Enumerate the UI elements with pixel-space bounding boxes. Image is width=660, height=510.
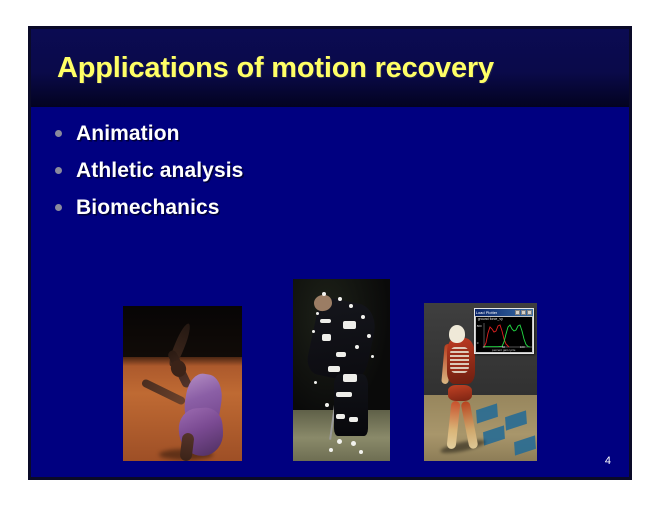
model-pelvis [448, 385, 472, 401]
bullet-label: Animation [76, 122, 180, 146]
plot-window[interactable]: Load Plotter [474, 308, 534, 354]
minimize-button[interactable] [515, 310, 520, 315]
mocap-marker [338, 297, 342, 301]
mocap-marker-band [349, 417, 358, 422]
model-skull [449, 325, 465, 343]
list-item: Athletic analysis [55, 152, 243, 189]
mocap-marker-band [336, 352, 346, 357]
bullet-dot-icon [55, 204, 62, 211]
plot-canvas: ground force_vy 800 0 0 50 100 percent g… [476, 317, 532, 352]
y-axis-max-label: 800 [477, 324, 482, 328]
bullet-list: Animation Athletic analysis Biomechanics [55, 115, 243, 226]
dancer-photo [123, 306, 242, 461]
presentation-slide: Applications of motion recovery Animatio… [28, 26, 632, 480]
mocap-marker [359, 450, 363, 454]
biomechanics-simulation: Load Plotter [424, 303, 537, 461]
page-title: Applications of motion recovery [57, 52, 494, 85]
x-axis-tick-left: 0 [483, 345, 485, 349]
plot-window-title: Load Plotter [476, 309, 498, 316]
bullet-label: Athletic analysis [76, 159, 243, 183]
mocap-marker-band [328, 366, 340, 372]
plot-window-titlebar[interactable]: Load Plotter [475, 309, 533, 316]
list-item: Animation [55, 115, 243, 152]
close-button[interactable] [527, 310, 532, 315]
mocap-marker-band [343, 321, 356, 329]
maximize-button[interactable] [521, 310, 526, 315]
bullet-label: Biomechanics [76, 196, 220, 220]
mocap-subject-legs [334, 374, 368, 436]
x-axis-label: percent gait cycle [492, 348, 515, 352]
bullet-dot-icon [55, 167, 62, 174]
mocap-marker [367, 334, 371, 338]
mocap-marker-band [336, 414, 345, 419]
bullet-dot-icon [55, 130, 62, 137]
mocap-marker [337, 439, 342, 444]
mocap-marker [322, 292, 326, 296]
mocap-marker-band [322, 334, 331, 341]
plot-series-label: ground force_vy [478, 317, 503, 322]
mocap-marker [355, 345, 359, 349]
mocap-marker-band [336, 392, 352, 397]
slide-title-band: Applications of motion recovery [31, 29, 629, 107]
mocap-marker-band [343, 374, 357, 382]
motion-capture-photo [293, 279, 390, 461]
mocap-marker [325, 403, 329, 407]
mocap-marker-band [320, 319, 331, 323]
model-ribcage [450, 347, 469, 373]
slide-body: Animation Athletic analysis Biomechanics [31, 107, 629, 477]
window-controls[interactable] [515, 310, 532, 315]
list-item: Biomechanics [55, 189, 243, 226]
page-number: 4 [605, 455, 611, 467]
x-axis-tick-right: 100 [520, 345, 525, 349]
y-axis-min-label: 0 [477, 341, 479, 345]
